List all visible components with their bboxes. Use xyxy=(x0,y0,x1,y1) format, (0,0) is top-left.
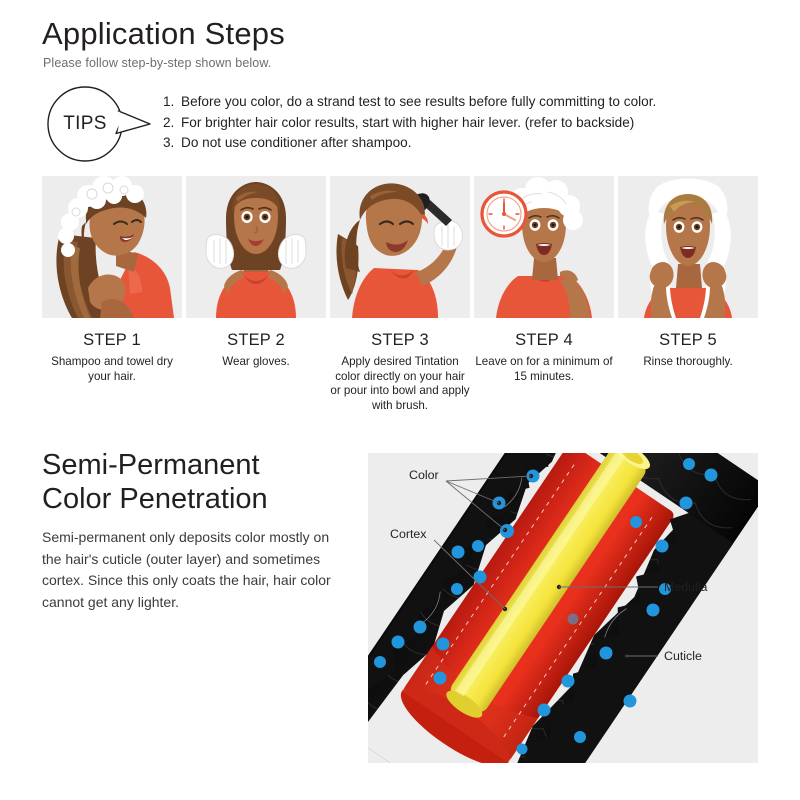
tip-number: 3. xyxy=(163,133,181,154)
tip-text: Do not use conditioner after shampoo. xyxy=(181,133,778,154)
step-1-description: Shampoo and towel dry your hair. xyxy=(42,355,182,384)
step-1-label: STEP 1 xyxy=(42,331,182,350)
step-card-2: STEP 2 Wear gloves. xyxy=(186,176,326,413)
step-5-illustration xyxy=(618,176,758,318)
tip-number: 2. xyxy=(163,113,181,134)
tip-item: 3. Do not use conditioner after shampoo. xyxy=(163,133,778,154)
penetration-title: Semi-Permanent Color Penetration xyxy=(42,448,268,516)
tip-item: 2. For brighter hair color results, star… xyxy=(163,113,778,134)
hair-strand-diagram-panel: Color Cortex Medulla Cuticle xyxy=(368,453,758,763)
step-2-label: STEP 2 xyxy=(186,331,326,350)
step-card-4: STEP 4 Leave on for a minimum of 15 minu… xyxy=(474,176,614,413)
step-2-illustration xyxy=(186,176,326,318)
step-5-description: Rinse thoroughly. xyxy=(618,355,758,370)
step-card-3: STEP 3 Apply desired Tintation color dir… xyxy=(330,176,470,413)
diagram-label-cuticle: Cuticle xyxy=(664,649,702,663)
page-root: Application Steps Please follow step-by-… xyxy=(0,0,800,800)
diagram-label-cortex: Cortex xyxy=(390,527,427,541)
tip-text: For brighter hair color results, start w… xyxy=(181,113,778,134)
step-card-5: STEP 5 Rinse thoroughly. xyxy=(618,176,758,413)
tips-list: 1. Before you color, do a strand test to… xyxy=(163,92,778,154)
step-3-illustration xyxy=(330,176,470,318)
step-1-illustration xyxy=(42,176,182,318)
penetration-body-text: Semi-permanent only deposits color mostl… xyxy=(42,527,342,613)
tips-badge-label: TIPS xyxy=(46,85,124,163)
step-3-description: Apply desired Tintation color directly o… xyxy=(330,355,470,413)
hair-strand-cross-section-diagram: Color Cortex Medulla Cuticle xyxy=(368,453,758,763)
tips-badge: TIPS xyxy=(46,85,156,165)
diagram-label-medulla: Medulla xyxy=(664,580,708,594)
penetration-title-line2: Color Penetration xyxy=(42,482,268,516)
application-steps-strip: STEP 1 Shampoo and towel dry your hair. xyxy=(42,176,758,413)
step-4-label: STEP 4 xyxy=(474,331,614,350)
step-2-description: Wear gloves. xyxy=(186,355,326,370)
page-subtitle: Please follow step-by-step shown below. xyxy=(43,56,271,70)
step-5-label: STEP 5 xyxy=(618,331,758,350)
tip-item: 1. Before you color, do a strand test to… xyxy=(163,92,778,113)
step-4-description: Leave on for a minimum of 15 minutes. xyxy=(474,355,614,384)
tip-text: Before you color, do a strand test to se… xyxy=(181,92,778,113)
step-card-1: STEP 1 Shampoo and towel dry your hair. xyxy=(42,176,182,413)
penetration-title-line1: Semi-Permanent xyxy=(42,448,268,482)
diagram-label-color: Color xyxy=(409,468,439,482)
step-3-label: STEP 3 xyxy=(330,331,470,350)
step-4-illustration xyxy=(474,176,614,318)
tip-number: 1. xyxy=(163,92,181,113)
page-title: Application Steps xyxy=(42,16,285,52)
